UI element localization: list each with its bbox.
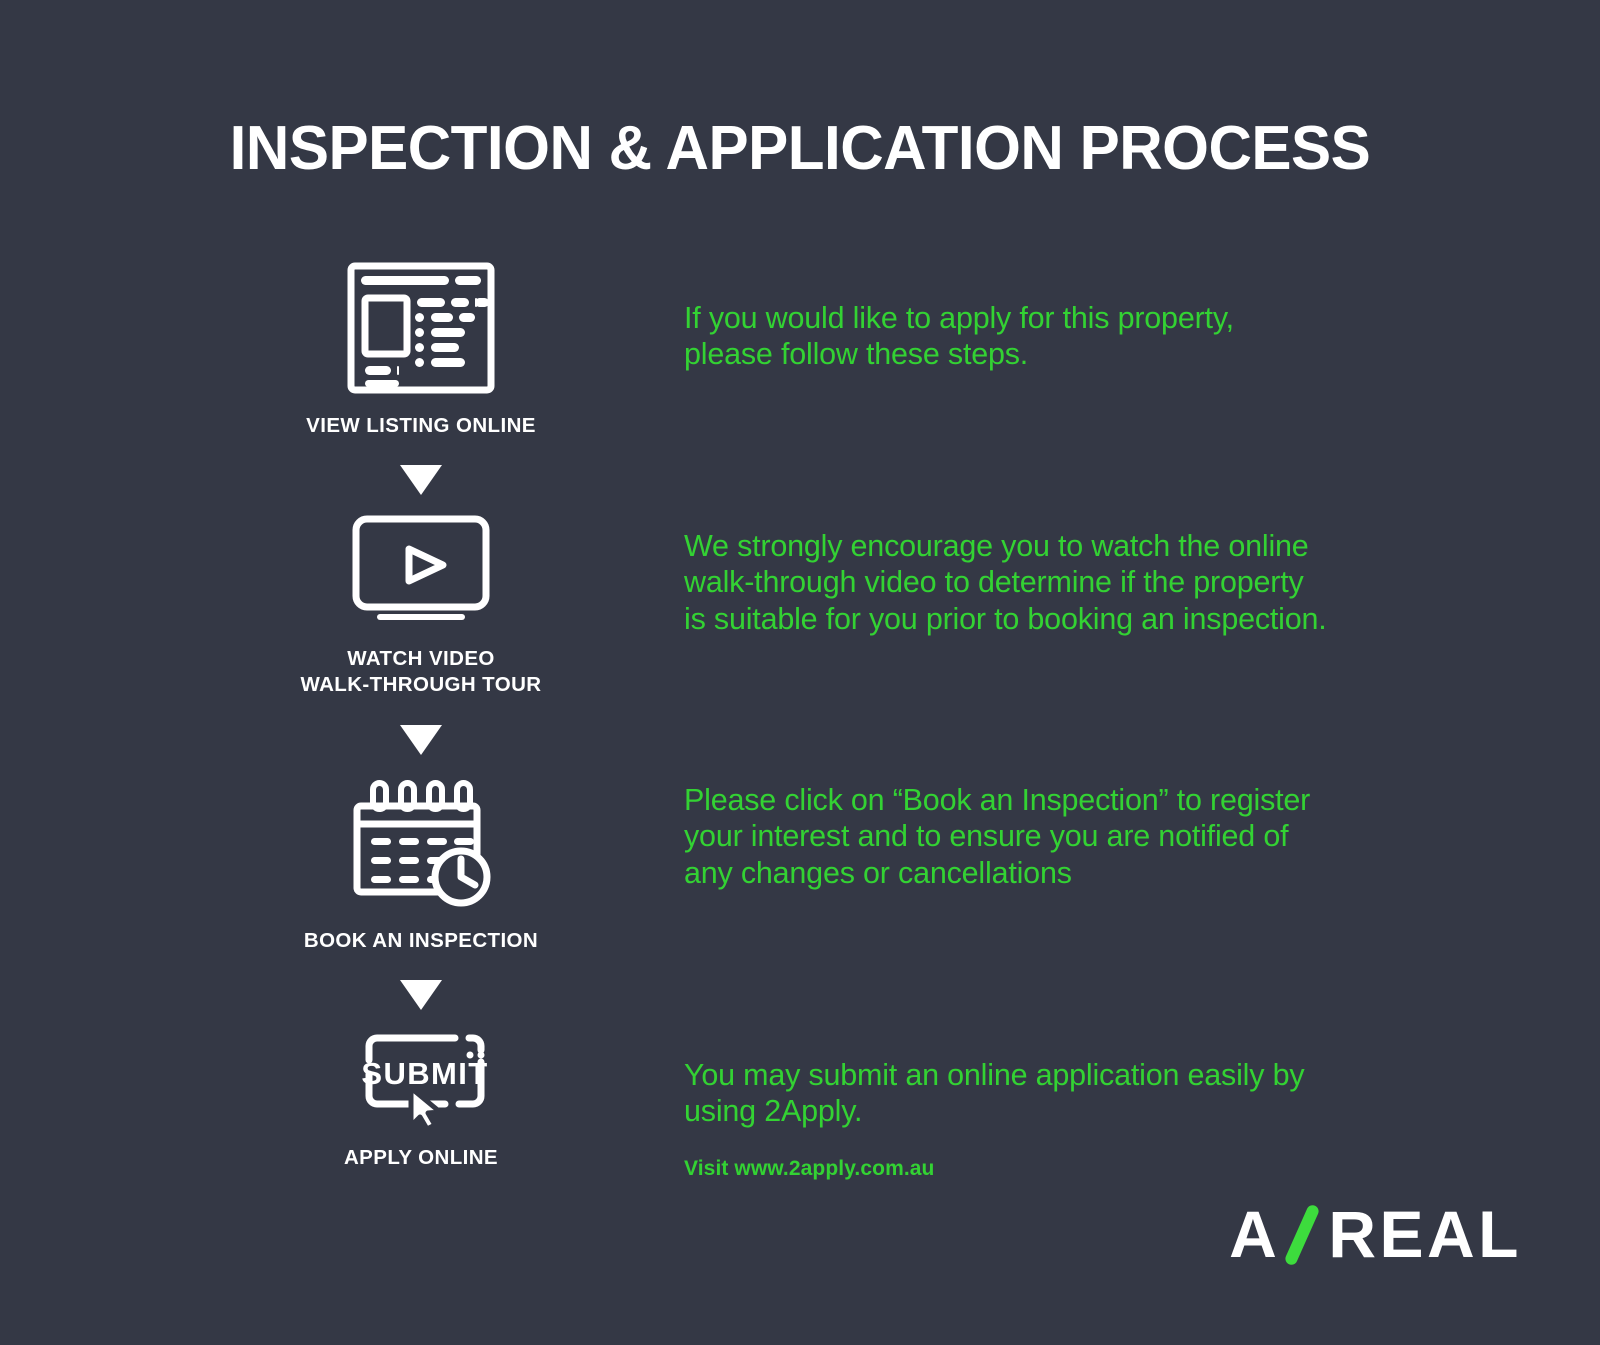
copy-paragraph-intro: If you would like to apply for this prop… [684, 300, 1384, 373]
logo-word-real: REAL [1328, 1201, 1522, 1267]
step-apply-online[interactable]: SUBMIT APPLY ONLINE [245, 1030, 597, 1171]
submit-button-cursor-icon: SUBMIT [347, 1030, 495, 1131]
copy-paragraph-video: We strongly encourage you to watch the o… [684, 528, 1444, 637]
browser-listing-icon [347, 262, 495, 399]
step-watch-video-walk-through-tour[interactable]: WATCH VIDEO WALK-THROUGH TOUR [245, 515, 597, 698]
submit-icon-label: SUBMIT [361, 1056, 488, 1091]
logo-letter-a: A [1229, 1201, 1280, 1267]
step-label-book-an-inspection: BOOK AN INSPECTION [304, 928, 538, 954]
triangle-down-icon-3 [245, 980, 597, 1010]
page-title: INSPECTION & APPLICATION PROCESS [24, 118, 1576, 180]
calendar-clock-icon [347, 775, 495, 914]
step-label-view-listing-online: VIEW LISTING ONLINE [306, 413, 536, 439]
triangle-down-icon-1 [245, 465, 597, 495]
video-play-monitor-icon [347, 515, 495, 632]
areal-logo: A REAL [1229, 1201, 1522, 1267]
step-view-listing-online[interactable]: VIEW LISTING ONLINE [245, 262, 597, 439]
process-steps-column: VIEW LISTING ONLINE WATCH VIDEO WALK-THR… [245, 262, 597, 1171]
step-label-apply-online: APPLY ONLINE [344, 1145, 498, 1171]
triangle-down-icon-2 [245, 725, 597, 755]
green-slash-icon [1282, 1201, 1326, 1267]
copy-paragraph-apply: You may submit an online application eas… [684, 1057, 1404, 1130]
step-label-watch-video-walk-through-tour: WATCH VIDEO WALK-THROUGH TOUR [300, 646, 541, 698]
copy-paragraph-inspection: Please click on “Book an Inspection” to … [684, 782, 1404, 891]
step-book-an-inspection[interactable]: BOOK AN INSPECTION [245, 775, 597, 954]
poster-canvas: INSPECTION & APPLICATION PROCESS [0, 0, 1600, 1345]
visit-url-link[interactable]: Visit www.2apply.com.au [684, 1157, 935, 1181]
